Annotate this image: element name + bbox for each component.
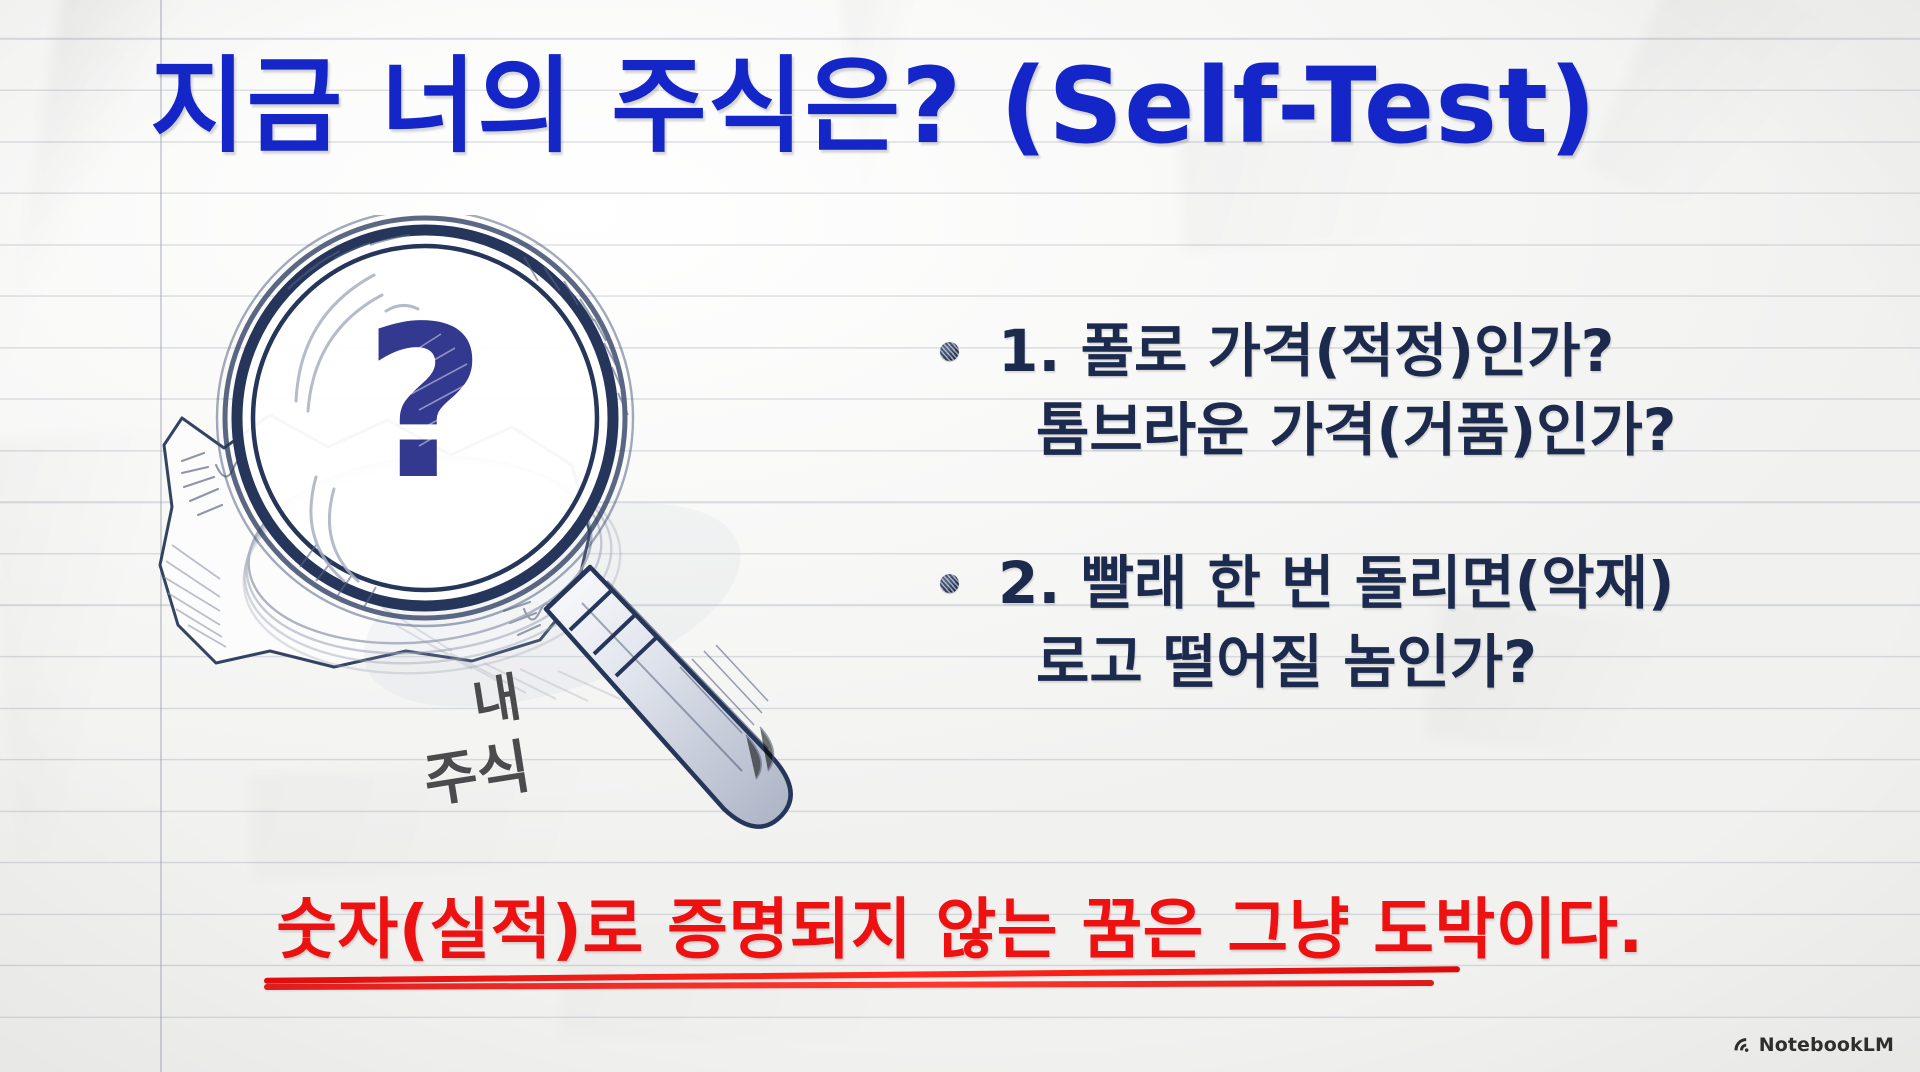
question-mark-glyph: ? [364,281,486,526]
checklist-item-2-text: 2. 빨래 한 번 돌리면(악재) 로고 떨어질 놈인가? [998,544,1900,702]
notebooklm-label: NotebookLM [1759,1034,1894,1056]
lens-question-mark: ? [364,281,486,526]
notebooklm-spiral-icon [1732,1035,1752,1055]
checklist-item-1-line-1: 1. 폴로 가격(적정)인가? [998,317,1614,385]
checklist-item-1-text: 1. 폴로 가격(적정)인가? 톰브라운 가격(거품)인가? [998,312,1900,470]
notebooklm-watermark: NotebookLM [1732,1034,1894,1056]
self-test-checklist: 1. 폴로 가격(적정)인가? 톰브라운 가격(거품)인가? 2. 빨래 한 번… [940,312,1900,776]
page-title: 지금 너의 주식은? (Self-Test) [150,48,1810,164]
bullet-dot-icon [940,574,959,593]
magnifying-glass-illustration: ? 내 주식 [120,215,1000,855]
note-label-line-2: 주식 [417,719,536,819]
punchline-label: 숫자(실적)로 증명되지 않는 꿈은 그냥 도박이다. [276,891,1643,968]
checklist-item-1-line-2: 톰브라운 가격(거품)인가? [1036,391,1900,470]
list-item: 2. 빨래 한 번 돌리면(악재) 로고 떨어질 놈인가? [940,544,1900,702]
list-item: 1. 폴로 가격(적정)인가? 톰브라운 가격(거품)인가? [940,312,1900,470]
checklist-item-2-line-2: 로고 떨어질 놈인가? [1036,623,1900,702]
checklist-item-2-line-1: 2. 빨래 한 번 돌리면(악재) [998,549,1674,617]
punchline-text: 숫자(실적)로 증명되지 않는 꿈은 그냥 도박이다. [270,876,1649,972]
punchline-container: 숫자(실적)로 증명되지 않는 꿈은 그냥 도박이다. [0,876,1920,972]
slide-canvas: 지금 너의 주식은? (Self-Test) [0,0,1920,1072]
bullet-dot-icon [940,342,959,361]
